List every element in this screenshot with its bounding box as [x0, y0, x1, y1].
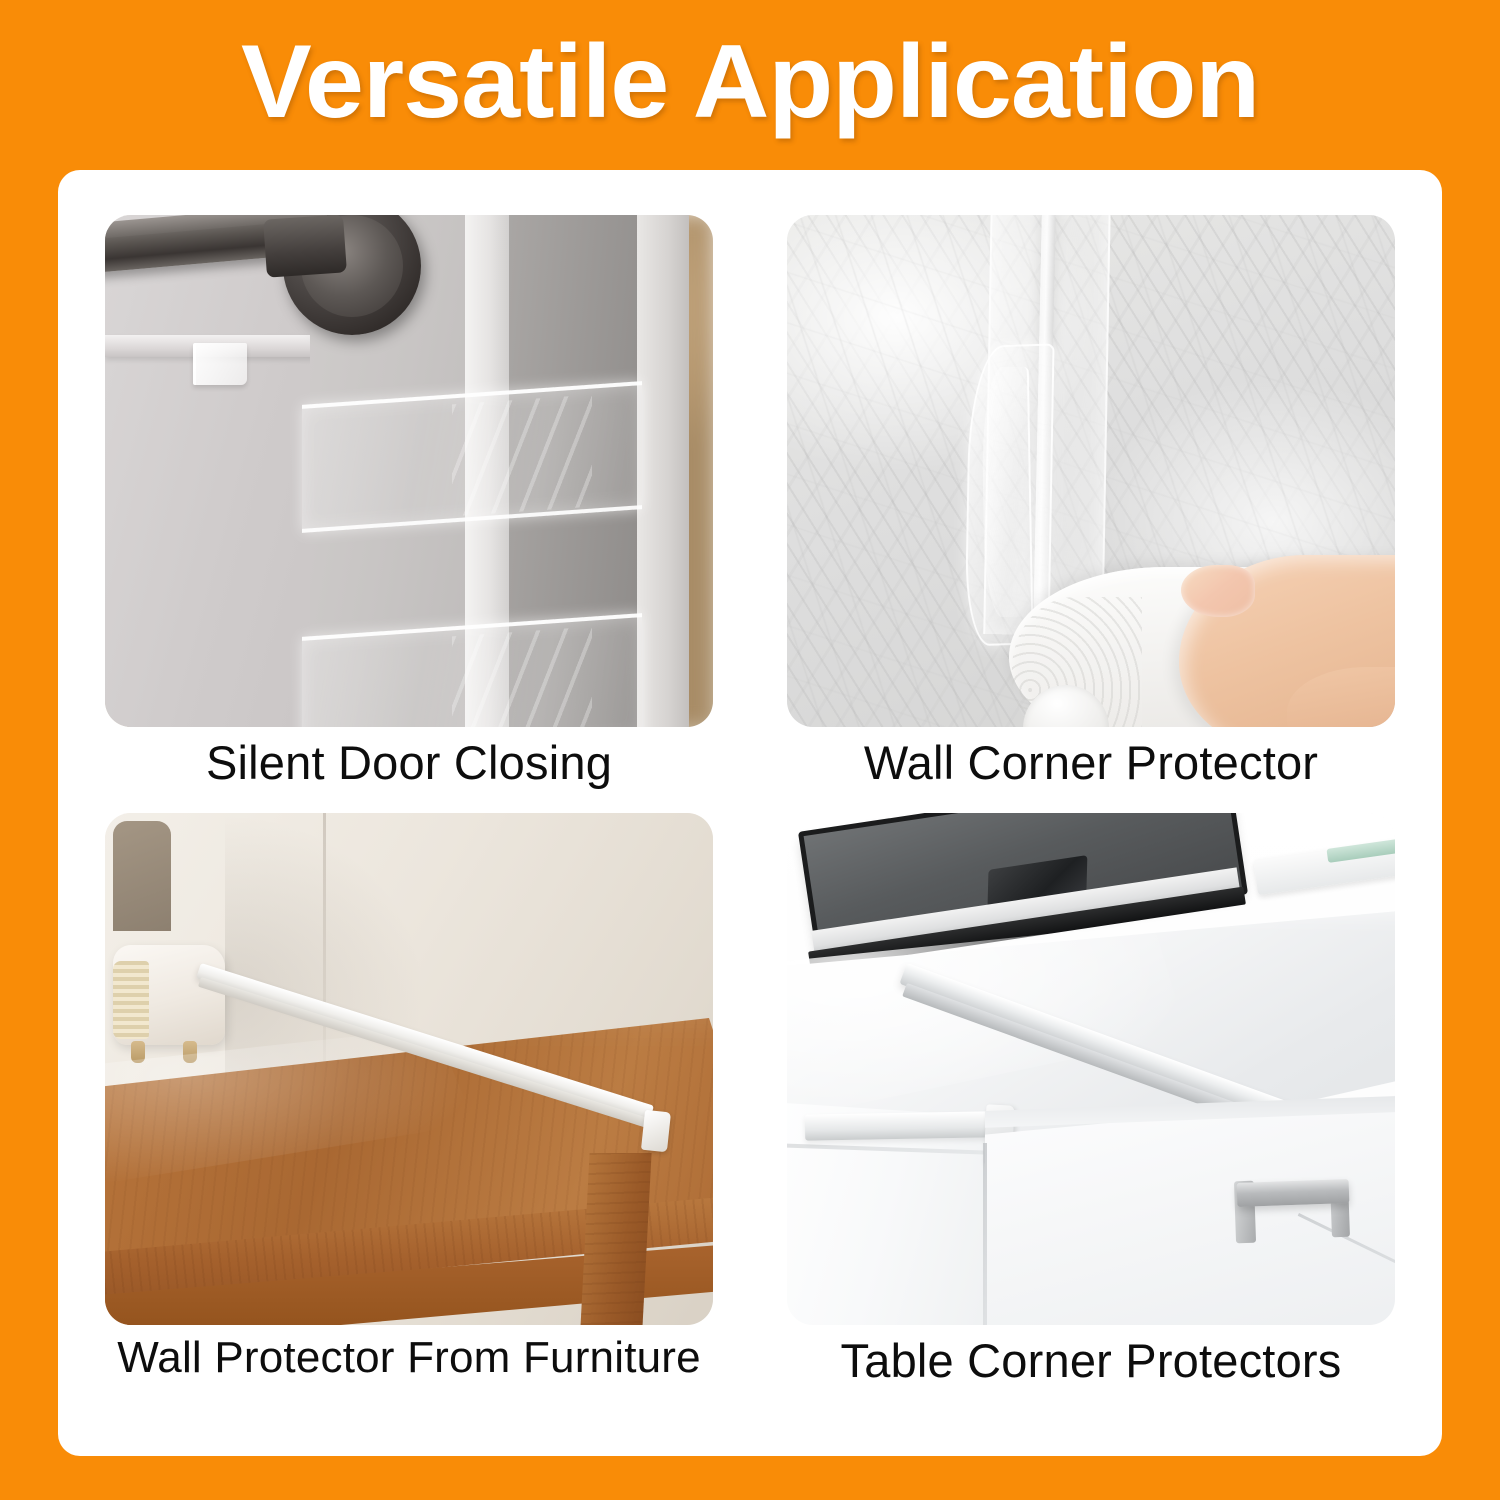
photo-wall-corner-protector — [787, 215, 1395, 727]
strip-sheen — [452, 627, 592, 727]
door-jamb — [637, 215, 689, 727]
tile-caption: Silent Door Closing — [105, 735, 713, 790]
photo-silent-door-closing — [105, 215, 713, 727]
content-card: Silent Door Closing — [58, 170, 1442, 1456]
clear-strip-end-cap — [641, 1110, 671, 1152]
clear-strip-on-trim — [193, 343, 247, 385]
door-handle-neck — [263, 215, 347, 278]
cabinet-vertical-seam — [983, 1143, 987, 1325]
application-tile-wall-corner-protector[interactable]: Wall Corner Protector — [787, 215, 1395, 813]
speaker-backdrop — [113, 821, 171, 931]
photo-table-corner-protectors — [787, 813, 1395, 1325]
versatile-application-poster: Versatile Application — [0, 0, 1500, 1500]
tile-caption: Wall Corner Protector — [787, 735, 1395, 790]
tile-caption: Wall Protector From Furniture — [105, 1333, 713, 1383]
speaker-grille — [113, 961, 149, 1039]
page-title: Versatile Application — [241, 30, 1259, 140]
photo-wall-protector-from-furniture — [105, 813, 713, 1325]
tile-caption: Table Corner Protectors — [787, 1333, 1395, 1388]
application-tile-table-corner-protectors[interactable]: Table Corner Protectors — [787, 813, 1395, 1411]
clear-silicone-strip-upper — [302, 381, 642, 533]
application-tile-silent-door-closing[interactable]: Silent Door Closing — [105, 215, 713, 813]
clear-strip-left-return — [805, 1111, 991, 1140]
desk-leg — [580, 1153, 651, 1325]
drawer-handle-bar — [1237, 1179, 1350, 1207]
application-grid: Silent Door Closing — [105, 215, 1395, 1411]
lifted-tape-inner — [981, 367, 1033, 618]
title-banner: Versatile Application — [0, 0, 1500, 170]
strip-sheen — [452, 395, 592, 517]
application-tile-wall-protector-from-furniture[interactable]: Wall Protector From Furniture — [105, 813, 713, 1411]
fingernail — [1181, 565, 1255, 617]
